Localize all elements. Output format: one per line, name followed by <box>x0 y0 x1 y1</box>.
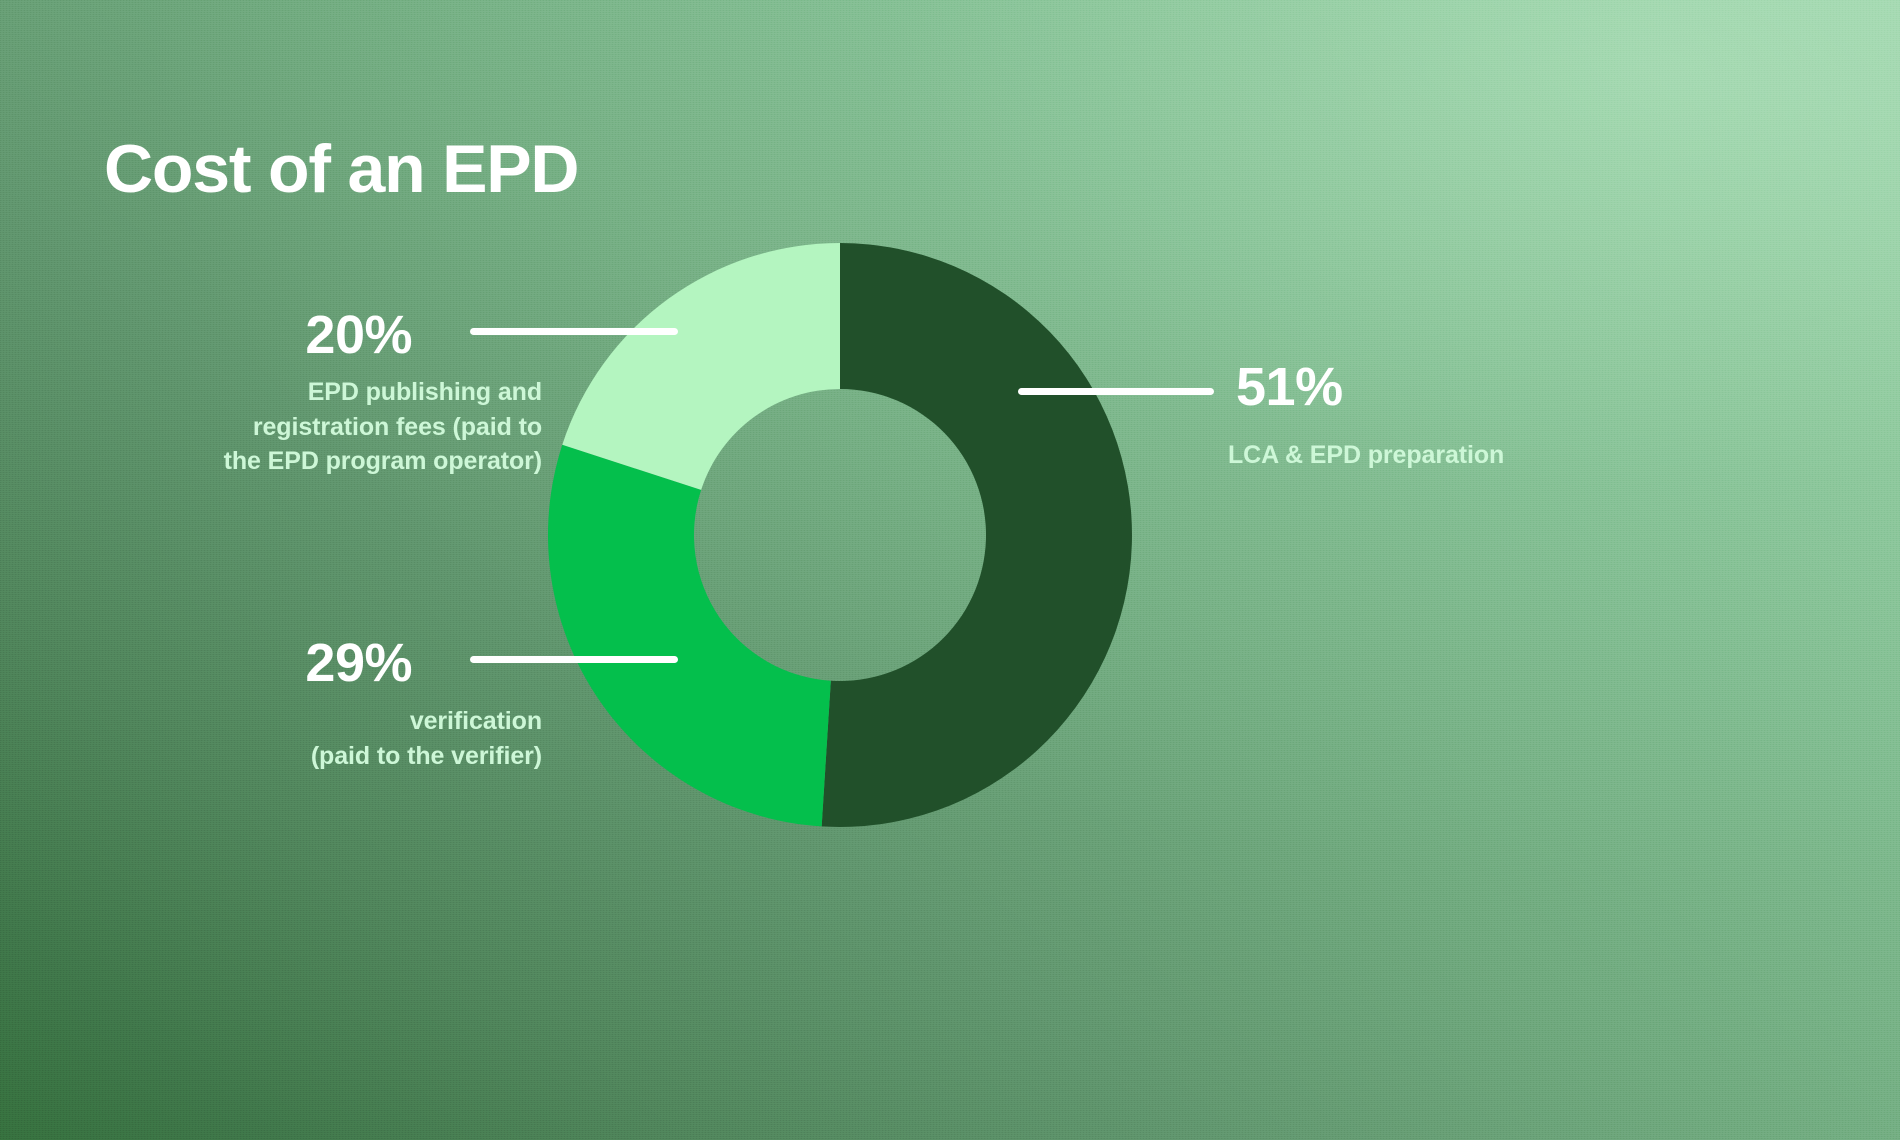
desc-line-2: registration fees (paid to <box>253 413 542 441</box>
donut-slice-lca-epd-preparation[interactable] <box>822 243 1132 827</box>
desc-line-2: (paid to the verifier) <box>311 742 542 770</box>
percent-label-20: 20% <box>305 308 412 362</box>
page-title: Cost of an EPD <box>104 134 578 205</box>
desc-line-1: verification <box>410 707 542 735</box>
leader-line-51 <box>1018 388 1214 395</box>
slice-description-51: LCA & EPD preparation <box>1228 438 1788 473</box>
desc-line-1: EPD publishing and <box>308 378 542 406</box>
percent-label-29: 29% <box>305 636 412 690</box>
content-layer: Cost of an EPD 20% EPD publishing and re… <box>0 0 1900 1140</box>
slice-description-20: EPD publishing and registration fees (pa… <box>92 375 542 479</box>
slice-description-29: verification (paid to the verifier) <box>92 704 542 773</box>
percent-label-51: 51% <box>1236 360 1343 414</box>
donut-slice-publishing-registration-fees[interactable] <box>562 243 840 490</box>
leader-line-29 <box>470 656 678 663</box>
desc-line-3: the EPD program operator) <box>224 447 542 475</box>
donut-slice-verification[interactable] <box>548 445 831 827</box>
leader-line-20 <box>470 328 678 335</box>
infographic-canvas: Cost of an EPD 20% EPD publishing and re… <box>0 0 1900 1140</box>
